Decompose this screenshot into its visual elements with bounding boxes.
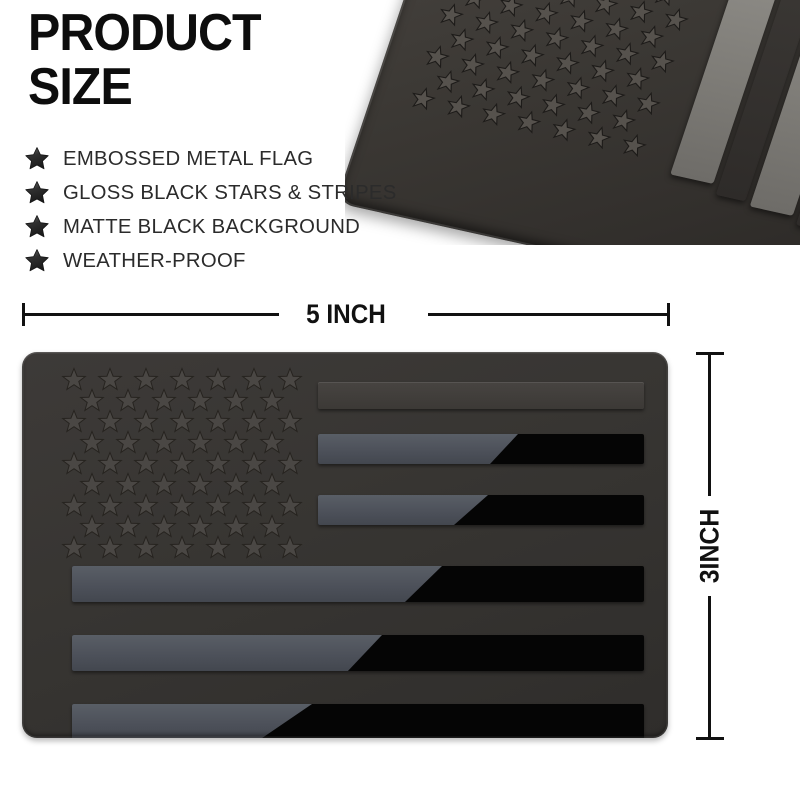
product-flag-front-view xyxy=(22,352,668,738)
stripe-highlight-section xyxy=(72,566,442,602)
stripe-highlight-section xyxy=(72,635,382,671)
dimension-line-top xyxy=(708,354,711,496)
dimension-line-left xyxy=(24,313,279,316)
star-icon xyxy=(24,248,50,274)
flag-stripes xyxy=(22,352,668,738)
star-icon xyxy=(24,180,50,206)
page-title: PRODUCT SIZE xyxy=(28,6,261,114)
dimension-line-bottom xyxy=(708,596,711,738)
list-item-label: GLOSS BLACK STARS & STRIPES xyxy=(63,181,397,205)
stripe-highlight-section xyxy=(318,434,518,464)
width-dimension-label: 5 INCH xyxy=(297,298,395,330)
list-item-label: WEATHER-PROOF xyxy=(63,249,246,273)
dimension-cap-bottom xyxy=(696,737,724,740)
list-item: WEATHER-PROOF xyxy=(24,244,454,278)
star-icon xyxy=(24,214,50,240)
flag-stripe-5 xyxy=(72,635,644,671)
flag-stripe-2 xyxy=(318,434,644,464)
flag-stripe-4 xyxy=(72,566,644,602)
flag-stripe-1 xyxy=(318,382,644,409)
list-item-label: MATTE BLACK BACKGROUND xyxy=(63,215,360,239)
width-dimension: 5 INCH xyxy=(22,300,670,332)
height-dimension: 3INCH xyxy=(693,352,727,740)
list-item: EMBOSSED METAL FLAG xyxy=(24,142,454,176)
list-item: GLOSS BLACK STARS & STRIPES xyxy=(24,176,454,210)
infographic-canvas: PRODUCT SIZE EMBOSSED METAL FLAG GLOSS B… xyxy=(0,0,800,800)
feature-list: EMBOSSED METAL FLAG GLOSS BLACK STARS & … xyxy=(24,142,454,278)
flag-stripe-3 xyxy=(318,495,644,525)
flag-stripe-6 xyxy=(72,704,644,738)
height-dimension-label: 3INCH xyxy=(693,501,728,590)
star-icon xyxy=(24,146,50,172)
dimension-line-right xyxy=(428,313,668,316)
dimension-cap-right xyxy=(667,303,670,326)
list-item: MATTE BLACK BACKGROUND xyxy=(24,210,454,244)
list-item-label: EMBOSSED METAL FLAG xyxy=(63,147,313,171)
